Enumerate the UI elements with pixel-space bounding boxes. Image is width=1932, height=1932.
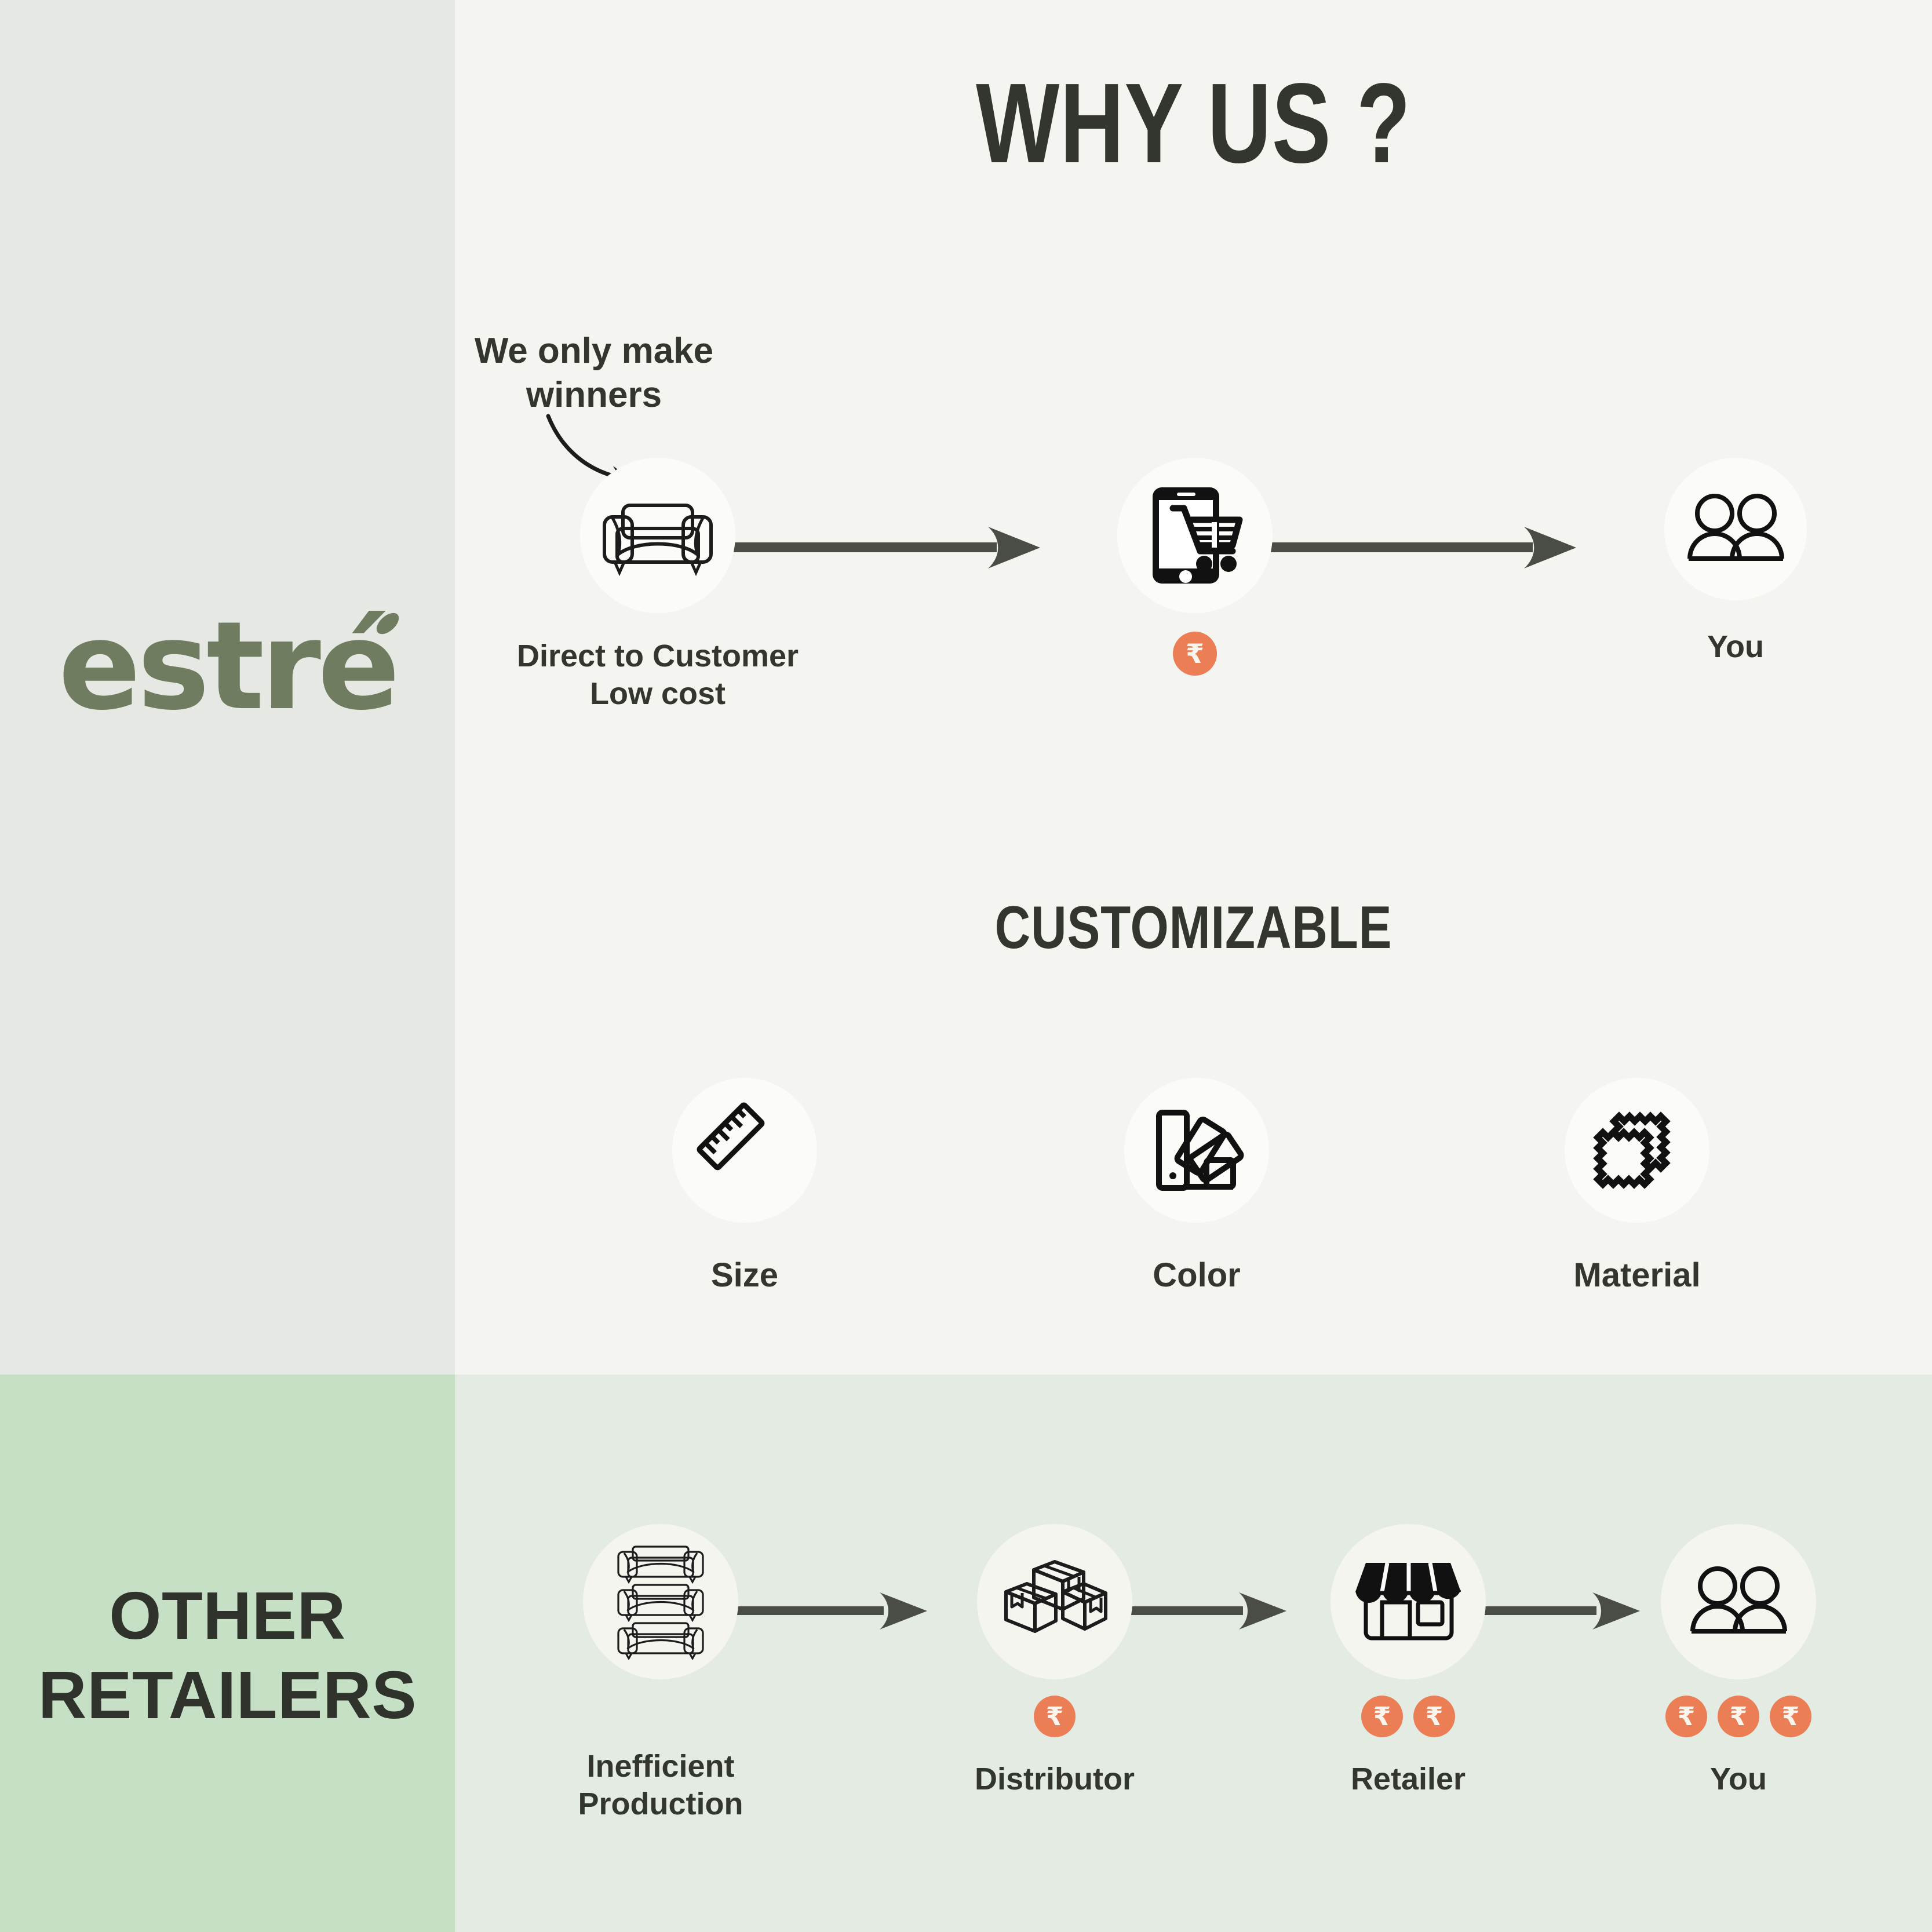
icon-bubble (1117, 458, 1273, 613)
icon-bubble (1330, 1524, 1486, 1679)
customizable-item-label: Size (591, 1255, 898, 1296)
coin-group: ₹ ₹ ₹ (1605, 1696, 1872, 1737)
retailer-node-label: Distributor (904, 1760, 1205, 1798)
flow-node-you-top: You (1582, 458, 1889, 666)
icon-bubble (1124, 1078, 1269, 1223)
rupee-coin: ₹ (1413, 1696, 1455, 1737)
retailer-node-label: Retailer (1257, 1760, 1559, 1798)
icon-bubble (583, 1524, 738, 1679)
icon-bubble (1661, 1524, 1816, 1679)
rupee-coin: ₹ (1718, 1696, 1759, 1737)
callout-text: We only make winners (449, 329, 739, 417)
icon-bubble (580, 458, 735, 613)
brand-logo-text: estré (59, 595, 397, 737)
infographic-root: estré OTHER RETAILERS WHY US ? We only m… (0, 0, 1932, 1932)
retailer-node-retailer: ₹ ₹ Retailer (1257, 1524, 1559, 1798)
coin-group: ₹ (1041, 632, 1348, 676)
retailer-node-label: Inefficient Production (510, 1748, 811, 1823)
retailer-node-you: ₹ ₹ ₹ You (1605, 1524, 1872, 1798)
rupee-coin: ₹ (1361, 1696, 1403, 1737)
boxes-icon (998, 1558, 1111, 1645)
two-people-icon (1684, 491, 1787, 567)
coin-group: ₹ ₹ (1257, 1696, 1559, 1737)
retailer-node-label: You (1605, 1760, 1872, 1798)
callout-line2: winners (449, 373, 739, 417)
color-swatch-icon (1146, 1100, 1248, 1201)
flow-node-label: You (1582, 628, 1889, 666)
label-line2: Low cost (504, 675, 811, 713)
customizable-item-label: Material (1483, 1255, 1791, 1296)
flow-node-direct-to-customer: Direct to Customer Low cost (504, 458, 811, 713)
fabric-swatch-icon (1585, 1099, 1689, 1202)
customizable-item-size: Size (591, 1078, 898, 1296)
rupee-coin: ₹ (1173, 632, 1217, 676)
page-title: WHY US ? (617, 58, 1769, 188)
brand-logo: estré (0, 606, 455, 727)
label-line1: Inefficient (510, 1748, 811, 1785)
rupee-coin: ₹ (1665, 1696, 1707, 1737)
customizable-item-label: Color (1043, 1255, 1350, 1296)
other-retailers-label-line1: OTHER (0, 1576, 455, 1656)
mobile-cart-icon (1140, 480, 1250, 590)
customizable-item-material: Material (1483, 1078, 1791, 1296)
icon-bubble (1565, 1078, 1709, 1223)
ruler-icon (695, 1101, 794, 1200)
flow-node-online-store: ₹ (1041, 458, 1348, 676)
callout-line1: We only make (449, 329, 739, 373)
label-line2: Production (510, 1785, 811, 1823)
rupee-coin: ₹ (1770, 1696, 1811, 1737)
flow-node-label: Direct to Customer Low cost (504, 637, 811, 713)
other-retailers-label: OTHER RETAILERS (0, 1576, 455, 1735)
retailer-node-inefficient-production: Inefficient Production (510, 1524, 811, 1823)
icon-bubble (977, 1524, 1132, 1679)
two-people-icon (1687, 1564, 1790, 1639)
customizable-item-color: Color (1043, 1078, 1350, 1296)
other-retailers-label-line2: RETAILERS (0, 1656, 455, 1735)
sofa-icon (600, 495, 716, 576)
icon-bubble (672, 1078, 817, 1223)
stacked-sofas-icon (608, 1544, 713, 1660)
storefront-icon (1353, 1558, 1463, 1645)
label-line1: Direct to Customer (504, 637, 811, 675)
customizable-title: CUSTOMIZABLE (588, 894, 1799, 963)
rupee-coin: ₹ (1034, 1696, 1076, 1737)
coin-group: ₹ (904, 1696, 1205, 1737)
retailer-node-distributor: ₹ Distributor (904, 1524, 1205, 1798)
icon-bubble (1664, 458, 1807, 600)
